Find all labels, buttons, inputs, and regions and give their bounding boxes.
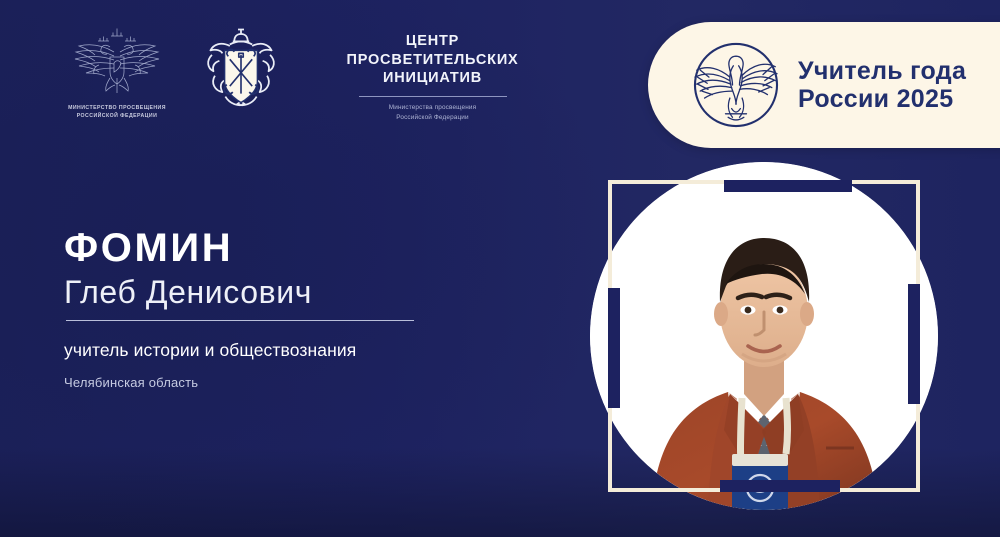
spb-emblem-logo <box>200 22 282 116</box>
participant-subject: учитель истории и обществознания <box>64 340 494 361</box>
center-logo-line-1: ЦЕНТР <box>330 32 535 51</box>
saint-petersburg-coat-of-arms-icon <box>200 22 282 116</box>
participant-name-divider <box>66 320 414 322</box>
center-logo-line-2: ПРОСВЕТИТЕЛЬСКИХ <box>330 51 535 70</box>
participant-surname: ФОМИН <box>64 228 494 268</box>
center-logo-text: ЦЕНТР ПРОСВЕТИТЕЛЬСКИХ ИНИЦИАТИВ Министе… <box>330 32 535 123</box>
portrait-frame <box>608 180 920 492</box>
center-logo-subtitle: Министерства просвещения Российской Феде… <box>330 103 535 124</box>
frame-notch-right <box>908 284 920 404</box>
contest-badge-line-1: Учитель года <box>798 57 966 85</box>
frame-notch-top <box>724 180 852 192</box>
russian-federation-coat-of-arms-eagle-icon <box>62 26 172 98</box>
contest-badge-line-2: России 2025 <box>798 85 966 113</box>
participant-info: ФОМИН Глеб Денисович учитель истории и о… <box>64 228 494 390</box>
frame-notch-left <box>608 288 620 408</box>
logo-strip: МИНИСТЕРСТВО ПРОСВЕЩЕНИЯ РОССИЙСКОЙ ФЕДЕ… <box>0 0 640 150</box>
participant-first-patronymic: Глеб Денисович <box>64 274 494 312</box>
pelican-in-circle-emblem-icon <box>688 37 784 133</box>
participant-region: Челябинская область <box>64 375 494 390</box>
portrait-block <box>560 150 980 537</box>
contest-badge: Учитель года России 2025 <box>648 22 1000 148</box>
broadcast-lower-third-slide: МИНИСТЕРСТВО ПРОСВЕЩЕНИЯ РОССИЙСКОЙ ФЕДЕ… <box>0 0 1000 537</box>
ministry-emblem-caption: МИНИСТЕРСТВО ПРОСВЕЩЕНИЯ РОССИЙСКОЙ ФЕДЕ… <box>56 104 178 120</box>
frame-notch-bottom <box>720 480 840 492</box>
center-logo-divider <box>359 96 507 97</box>
ministry-emblem-logo: МИНИСТЕРСТВО ПРОСВЕЩЕНИЯ РОССИЙСКОЙ ФЕДЕ… <box>56 26 178 120</box>
contest-badge-text: Учитель года России 2025 <box>798 57 966 113</box>
center-logo-line-3: ИНИЦИАТИВ <box>330 69 535 88</box>
